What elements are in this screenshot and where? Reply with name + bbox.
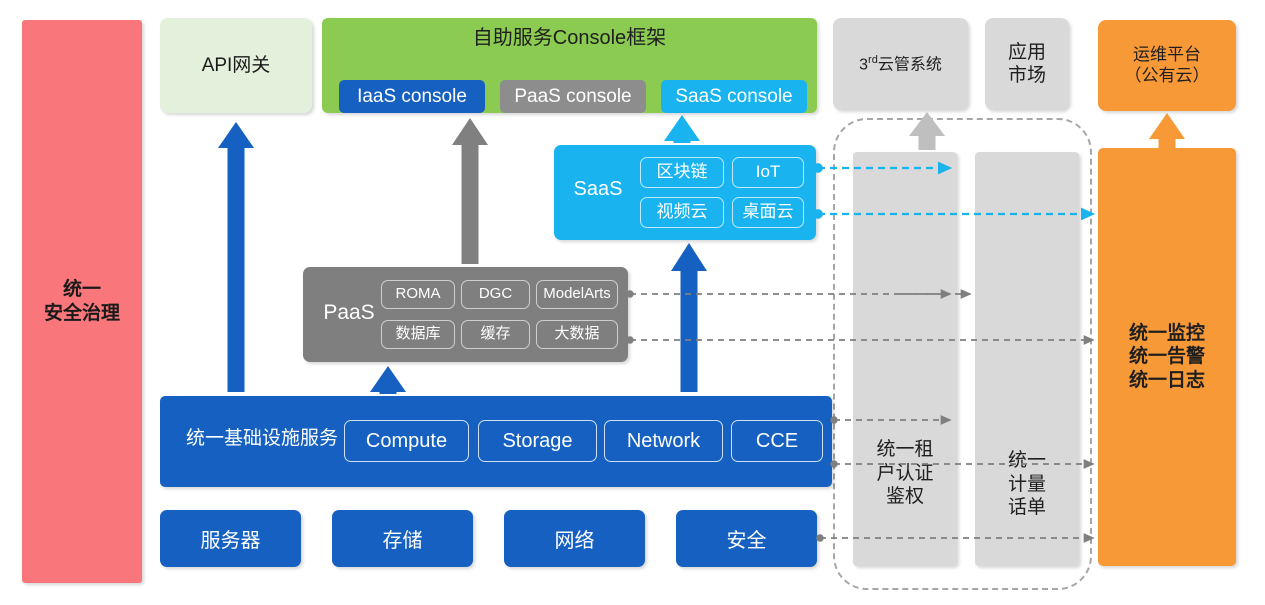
unified-metering-billing-column[interactable]: 统一 计量 话单 (975, 152, 1079, 566)
hardware-box-storage-label: 存储 (383, 524, 423, 553)
saas-console-label: SaaS console (675, 85, 792, 108)
api-gateway-label: API网关 (202, 54, 271, 77)
unified-security-governance-column[interactable]: 统一 安全治理 (22, 20, 142, 583)
hardware-box-security[interactable]: 安全 (676, 510, 817, 567)
unified-monitoring-label: 统一监控 统一告警 统一日志 (1129, 322, 1205, 392)
paas-block-label: PaaS (313, 300, 385, 326)
console-frame-title: 自助服务Console框架 (322, 26, 817, 50)
arrow-saas-to-console (664, 115, 700, 143)
saas-chip-video-cloud-label: 视频云 (657, 202, 708, 223)
infra-chip-compute-label: Compute (366, 429, 447, 453)
paas-chip-database[interactable]: 数据库 (381, 320, 455, 349)
infra-chip-cce-label: CCE (756, 429, 798, 453)
paas-chip-database-label: 数据库 (395, 325, 440, 343)
ops-platform-public-cloud-box[interactable]: 运维平台 （公有云） (1098, 20, 1236, 111)
unified-tenant-auth-column[interactable]: 统一租 户认证 鉴权 (853, 152, 957, 566)
iaas-console-pill[interactable]: IaaS console (339, 80, 485, 113)
saas-chip-blockchain-label: 区块链 (657, 162, 708, 183)
unified-tenant-auth-label: 统一租 户认证 鉴权 (853, 438, 957, 509)
arrow-ops-column-to-ops-platform (1149, 113, 1185, 150)
paas-chip-roma-label: ROMA (396, 285, 441, 303)
iaas-console-label: IaaS console (357, 85, 467, 108)
paas-chip-cache[interactable]: 缓存 (461, 320, 530, 349)
saas-console-pill[interactable]: SaaS console (661, 80, 807, 113)
unified-security-governance-label: 统一 安全治理 (44, 278, 120, 324)
third-party-superscript: rd (868, 54, 878, 66)
paas-chip-dgc[interactable]: DGC (461, 280, 530, 309)
paas-chip-bigdata[interactable]: 大数据 (536, 320, 618, 349)
self-service-console-frame[interactable]: 自助服务Console框架 IaaS console PaaS console … (322, 18, 817, 113)
saas-block[interactable]: SaaS 区块链 IoT 视频云 桌面云 (554, 145, 816, 240)
infra-chip-storage-label: Storage (502, 429, 572, 453)
infra-chip-compute[interactable]: Compute (344, 420, 469, 462)
hardware-box-network[interactable]: 网络 (504, 510, 645, 567)
hardware-box-storage[interactable]: 存储 (332, 510, 473, 567)
hardware-box-server[interactable]: 服务器 (160, 510, 301, 567)
ops-platform-public-cloud-label: 运维平台 （公有云） (1125, 45, 1210, 86)
third-party-cloud-management-label: 3rd云管系统 (859, 54, 942, 75)
infra-chip-network[interactable]: Network (604, 420, 723, 462)
architecture-diagram: 统一 安全治理 API网关 自助服务Console框架 IaaS console… (0, 0, 1265, 605)
unified-metering-billing-label: 统一 计量 话单 (975, 449, 1079, 520)
paas-chip-modelarts[interactable]: ModelArts (536, 280, 618, 309)
arrow-infra-to-api-gateway (218, 122, 254, 392)
paas-chip-roma[interactable]: ROMA (381, 280, 455, 309)
saas-block-label: SaaS (566, 177, 630, 201)
saas-chip-iot[interactable]: IoT (732, 157, 804, 188)
third-party-cloud-management-box[interactable]: 3rd云管系统 (833, 18, 968, 110)
hardware-box-server-label: 服务器 (201, 524, 261, 553)
app-market-box[interactable]: 应用 市场 (985, 18, 1069, 110)
saas-chip-video-cloud[interactable]: 视频云 (640, 197, 724, 228)
unified-monitoring-column[interactable]: 统一监控 统一告警 统一日志 (1098, 148, 1236, 566)
paas-console-label: PaaS console (514, 85, 631, 108)
paas-console-pill[interactable]: PaaS console (500, 80, 646, 113)
paas-chip-dgc-label: DGC (479, 285, 512, 303)
saas-chip-desktop-cloud-label: 桌面云 (743, 202, 794, 223)
hardware-box-network-label: 网络 (555, 524, 595, 553)
third-party-prefix: 3 (859, 56, 868, 73)
paas-block[interactable]: PaaS ROMA DGC ModelArts 数据库 缓存 大数据 (303, 267, 628, 362)
saas-chip-iot-label: IoT (756, 162, 781, 183)
third-party-suffix: 云管系统 (878, 56, 942, 73)
saas-chip-desktop-cloud[interactable]: 桌面云 (732, 197, 804, 228)
app-market-label: 应用 市场 (1008, 41, 1046, 87)
arrow-paas-to-console (452, 118, 488, 264)
paas-chip-bigdata-label: 大数据 (554, 325, 599, 343)
api-gateway-box[interactable]: API网关 (160, 18, 312, 113)
unified-infrastructure-service-label: 统一基础设施服务 (172, 427, 352, 450)
infra-chip-network-label: Network (627, 429, 700, 453)
unified-infrastructure-service-bar[interactable]: 统一基础设施服务 Compute Storage Network CCE (160, 396, 832, 487)
paas-chip-modelarts-label: ModelArts (543, 285, 611, 303)
infra-chip-storage[interactable]: Storage (478, 420, 597, 462)
arrow-infra-to-saas (671, 243, 707, 392)
hardware-box-security-label: 安全 (727, 524, 767, 553)
saas-chip-blockchain[interactable]: 区块链 (640, 157, 724, 188)
paas-chip-cache-label: 缓存 (480, 325, 510, 343)
infra-chip-cce[interactable]: CCE (731, 420, 823, 462)
arrow-infra-to-paas (370, 366, 406, 394)
